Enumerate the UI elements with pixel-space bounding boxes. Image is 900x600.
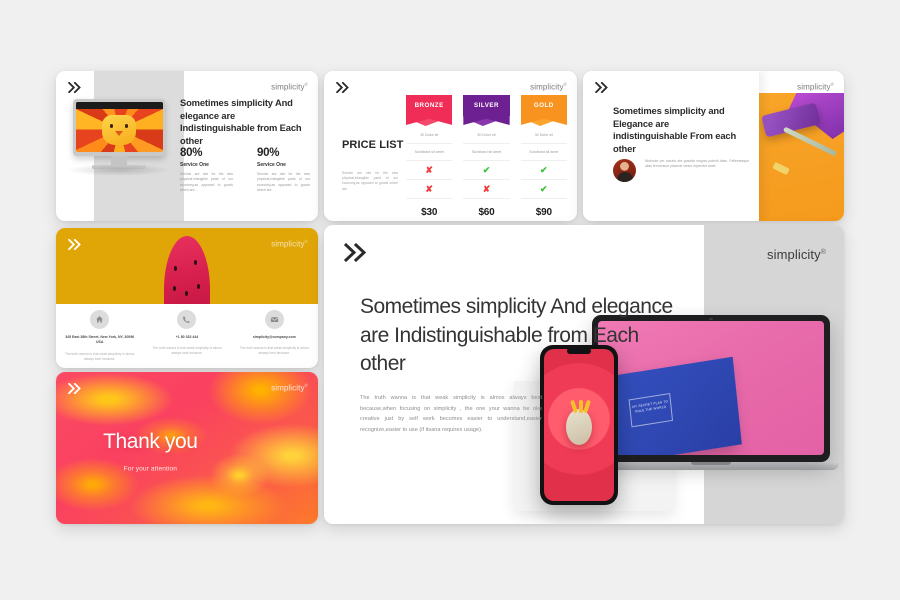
contact-note: The truth wanna is that weak simplicity … xyxy=(64,352,135,362)
tier-ribbon: GOLD xyxy=(521,95,567,126)
feature-check: ✘ xyxy=(406,161,452,180)
monitor-screen xyxy=(73,99,165,156)
slide-heading: Sometimes simplicity And elegance are In… xyxy=(180,97,308,147)
feature-check: ✘ xyxy=(463,180,509,199)
slide-thank-you[interactable]: simplicity® Thank you For your attention xyxy=(56,372,318,524)
slide-hero-monitor[interactable]: simplicity® Sometimes simplicity And ele… xyxy=(56,71,318,221)
brand-logo: simplicity® xyxy=(271,239,308,249)
pricing-column-gold[interactable]: GOLD 30 Dolor sit Sundbard sit amet ✔ ✔ … xyxy=(521,95,567,218)
tier-price: $90 xyxy=(521,199,567,218)
stat-body: Service are oke for the new physical,int… xyxy=(257,172,310,194)
brand-logo: simplicity® xyxy=(530,82,567,92)
lion-eye-left xyxy=(110,124,113,128)
tier-label: BRONZE xyxy=(406,95,452,116)
double-chevron-right-icon xyxy=(336,82,351,93)
notebook-label: MY SECRET PLAN TO RULE THE WORLD xyxy=(629,393,673,427)
mail-icon xyxy=(265,310,284,329)
stat-item: 80% Service One Service are oke for the … xyxy=(180,147,233,194)
brand-name: simplicity xyxy=(271,384,304,393)
brand-logo: simplicity® xyxy=(271,383,308,393)
brand-name: simplicity xyxy=(271,240,304,249)
pricing-column-silver[interactable]: SILVER 30 Dolor sit Sundbard sit amet ✔ … xyxy=(463,95,509,218)
double-chevron-right-icon xyxy=(68,82,83,93)
pricing-column-bronze[interactable]: BRONZE 30 Dolor sit Sundbard sit amet ✘ … xyxy=(406,95,452,218)
avatar xyxy=(613,159,636,182)
stats-row: 80% Service One Service are oke for the … xyxy=(180,147,310,194)
tier-label: GOLD xyxy=(521,95,567,116)
watermelon-seed xyxy=(185,291,188,296)
contact-value: +1 80 333 444 xyxy=(151,335,222,340)
presentation-preview-canvas: simplicity® Sometimes simplicity And ele… xyxy=(0,0,900,600)
thank-you-title: Thank you xyxy=(103,430,197,454)
contact-note: The truth wanna is that weak simplicity … xyxy=(151,346,222,356)
monitor-mockup xyxy=(73,99,165,169)
double-chevron-right-icon xyxy=(595,82,610,93)
dragonfruit-leaf xyxy=(583,399,591,413)
slide-contact[interactable]: simplicity® 345 East 38th Street, New Yo… xyxy=(56,228,318,368)
dragonfruit-leaf xyxy=(570,399,578,413)
brand-registered: ® xyxy=(564,82,567,87)
price-list-title: PRICE LIST xyxy=(342,139,404,152)
lion-illustration xyxy=(102,115,136,145)
stat-value: 90% xyxy=(257,147,310,159)
brand-logo: simplicity® xyxy=(797,82,834,92)
feature-row: 30 Dolor sit xyxy=(406,126,452,144)
feature-row: Sundbard sit amet xyxy=(521,144,567,162)
stat-item: 90% Service One Service are oke for the … xyxy=(257,147,310,194)
stat-value: 80% xyxy=(180,147,233,159)
slide-testimonial[interactable]: simplicity® Sometimes simplicity and Ele… xyxy=(583,71,844,221)
feature-check: ✔ xyxy=(521,161,567,180)
stat-label: Service One xyxy=(180,162,233,168)
laptop-base xyxy=(583,462,839,470)
brand-registered: ® xyxy=(305,383,308,388)
home-icon xyxy=(90,310,109,329)
contact-item-email[interactable]: simplicity@company.com The truth wanna i… xyxy=(231,310,318,362)
feature-check: ✔ xyxy=(521,180,567,199)
phone-icon xyxy=(177,310,196,329)
feature-check: ✔ xyxy=(463,161,509,180)
watermelon-seed xyxy=(194,260,197,265)
brand-logo: simplicity® xyxy=(767,247,826,262)
stat-label: Service One xyxy=(257,162,310,168)
testimonial-block: Nisbonte per mauris alis gravida magnis … xyxy=(613,159,749,182)
contact-note: The truth wanna is that weak simplicity … xyxy=(239,346,310,356)
thank-you-subtitle: For your attention xyxy=(124,466,177,473)
slide-main-feature[interactable]: simplicity® Sometimes simplicity And ele… xyxy=(324,225,844,524)
contact-value: simplicity@company.com xyxy=(239,335,310,340)
contact-item-address[interactable]: 345 East 38th Street, New York, NY, 3009… xyxy=(56,310,143,362)
slide-body: The truth wanna is that weak simplicity … xyxy=(360,393,542,435)
tier-ribbon: SILVER xyxy=(463,95,509,126)
slide-heading: Sometimes simplicity and Elegance are in… xyxy=(613,105,741,155)
stat-body: Service are oke for the new physical,int… xyxy=(180,172,233,194)
watermelon-seed xyxy=(173,286,176,291)
slide-heading: Sometimes simplicity And elegance are In… xyxy=(360,293,680,379)
brand-registered: ® xyxy=(831,82,834,87)
tier-price: $30 xyxy=(406,199,452,218)
feature-row: Sundbard sit amet xyxy=(463,144,509,162)
contact-value: 345 East 38th Street, New York, NY, 3009… xyxy=(64,335,135,346)
brand-name: simplicity xyxy=(271,83,304,92)
feature-row: Sundbard sit amet xyxy=(406,144,452,162)
feature-row: 30 Dolor sit xyxy=(521,126,567,144)
roller-grip xyxy=(772,162,789,175)
tier-price: $60 xyxy=(463,199,509,218)
double-chevron-right-icon xyxy=(68,383,83,394)
monitor-shadow xyxy=(66,164,172,176)
brand-registered: ® xyxy=(305,82,308,87)
brand-name: simplicity xyxy=(530,83,563,92)
pricing-table: BRONZE 30 Dolor sit Sundbard sit amet ✘ … xyxy=(406,95,567,218)
feature-check: ✘ xyxy=(406,180,452,199)
feature-row: 30 Dolor sit xyxy=(463,126,509,144)
lion-nose xyxy=(115,131,123,136)
testimonial-quote: Nisbonte per mauris alis gravida magnis … xyxy=(645,159,749,170)
brand-name: simplicity xyxy=(767,247,821,262)
lion-eye-right xyxy=(125,124,128,128)
watermelon-illustration xyxy=(164,236,210,304)
monitor-wallpaper xyxy=(76,102,163,153)
price-list-body: Service are oke for the new physical,int… xyxy=(342,171,398,192)
tier-label: SILVER xyxy=(463,95,509,116)
tier-ribbon: BRONZE xyxy=(406,95,452,126)
brand-name: simplicity xyxy=(797,83,830,92)
brand-logo: simplicity® xyxy=(271,82,308,92)
double-chevron-right-icon xyxy=(68,239,83,250)
watermelon-seed xyxy=(197,284,200,289)
brand-registered: ® xyxy=(305,239,308,244)
contact-item-phone[interactable]: +1 80 333 444 The truth wanna is that we… xyxy=(143,310,230,362)
paint-roller-photo xyxy=(759,93,844,221)
dragonfruit-illustration xyxy=(566,409,592,445)
watermelon-seed xyxy=(174,266,177,271)
contact-row: 345 East 38th Street, New York, NY, 3009… xyxy=(56,310,318,362)
slide-price-list[interactable]: simplicity® PRICE LIST Service are oke f… xyxy=(324,71,577,221)
brand-registered: ® xyxy=(821,249,826,256)
double-chevron-right-icon xyxy=(344,243,370,262)
